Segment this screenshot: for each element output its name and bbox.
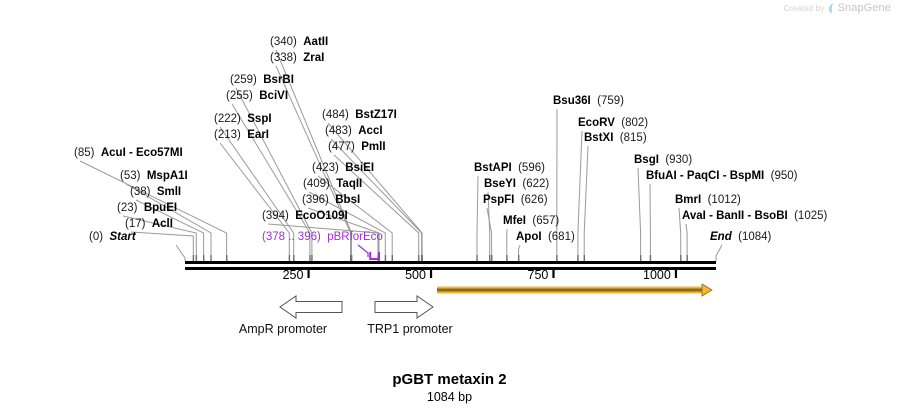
cut-site-tick [289, 255, 290, 261]
start-marker-label: (0) Start [89, 231, 136, 243]
enzyme-position: (255) [226, 90, 253, 102]
cut-site-tick [680, 255, 681, 261]
start-marker-leader [176, 245, 185, 261]
ruler-tick [307, 269, 309, 278]
cut-site-tick [577, 255, 578, 261]
enzyme-label-eari: (213) EarI [214, 129, 269, 141]
enzyme-name: PspFI [483, 194, 514, 206]
enzyme-name: AvaI [682, 210, 706, 222]
enzyme-position: (85) [74, 147, 94, 159]
cut-site-tick [506, 255, 507, 261]
enzyme-position: (622) [522, 178, 549, 190]
marker-position: (0) [89, 231, 103, 243]
enzyme-position: (596) [518, 162, 545, 174]
enzyme-label-acci: (483) AccI [325, 125, 383, 137]
enzyme-name: SmlI [157, 186, 181, 198]
cut-site-tick [518, 255, 519, 261]
marker-name: Start [109, 231, 135, 243]
enzyme-label-pmli: (477) PmlI [328, 141, 386, 153]
enzyme-label-bstapi: BstAPI (596) [474, 162, 545, 174]
enzyme-position: (759) [597, 95, 624, 107]
enzyme-name: PaqCI [687, 170, 720, 182]
enzyme-name: BsgI [634, 154, 659, 166]
enzyme-name: Eco57MI [136, 147, 183, 159]
enzyme-position: (483) [325, 125, 352, 137]
enzyme-label-bpuei: (23) BpuEI [117, 202, 177, 214]
enzyme-label-bmri: BmrI (1012) [675, 194, 741, 206]
cut-site-leader [578, 131, 582, 261]
enzyme-name: EcoRV [578, 117, 615, 129]
enzyme-name: EarI [247, 129, 269, 141]
cut-site-tick [203, 255, 204, 261]
cut-site-tick [196, 255, 197, 261]
enzyme-position: (681) [548, 231, 575, 243]
enzyme-name: ZraI [303, 52, 324, 64]
cut-site-tick [350, 255, 351, 261]
enzyme-label-bsu36i: Bsu36I (759) [553, 95, 624, 107]
enzyme-position: (815) [620, 132, 647, 144]
enzyme-position: (53) [120, 170, 140, 182]
enzyme-label-bsrbi: (259) BsrBI [230, 74, 294, 86]
cut-site-tick [193, 255, 194, 261]
enzyme-position: (802) [621, 117, 648, 129]
cut-site-tick [385, 255, 386, 261]
enzyme-label-bcivi: (255) BciVI [226, 90, 288, 102]
primer-leader [358, 245, 368, 257]
enzyme-label-mspa1i: (53) MspA1I [120, 170, 188, 182]
enzyme-label-acui: (85) AcuI - Eco57MI [74, 147, 183, 159]
cut-site-leader [220, 143, 289, 261]
plasmid-length: 1084 bp [0, 390, 899, 404]
cut-site-tick [489, 255, 490, 261]
enzyme-label-bsiei: (423) BsiEI [312, 162, 374, 174]
enzyme-label-sspi: (222) SspI [214, 113, 272, 125]
cut-site-tick [491, 255, 492, 261]
enzyme-label-mfei: MfeI (657) [503, 215, 559, 227]
enzyme-position: (38) [130, 186, 150, 198]
enzyme-name: PmlI [361, 141, 385, 153]
enzyme-label-zrai: (338) ZraI [270, 52, 324, 64]
plasmid-title: pGBT metaxin 2 [0, 371, 899, 388]
enzyme-position: (1025) [794, 210, 827, 222]
enzyme-label-bsgi: BsgI (930) [634, 154, 692, 166]
enzyme-label-bfuai: BfuAI - PaqCI - BspMI (950) [646, 170, 797, 182]
cut-site-tick [686, 255, 687, 261]
enzyme-label-apoi: ApoI (681) [516, 231, 575, 243]
ruler-tick [675, 269, 677, 278]
cut-site-tick [584, 255, 585, 261]
enzyme-name: BanII [716, 210, 744, 222]
enzyme-label-bseyi: BseYI (622) [484, 178, 549, 190]
enzyme-name: EcoO109I [295, 210, 347, 222]
enzyme-position: (423) [312, 162, 339, 174]
enzyme-label-pspfi: PspFI (626) [483, 194, 548, 206]
cut-site-tick [210, 255, 211, 261]
cut-site-tick [640, 255, 641, 261]
enzyme-position: (23) [117, 202, 137, 214]
enzyme-label-aatii: (340) AatII [270, 36, 328, 48]
plasmid-map: Created by SnapGene (85) AcuI - Eco57MI(… [0, 0, 899, 411]
enzyme-name: ApoI [516, 231, 542, 243]
cut-site-tick [392, 255, 393, 261]
marker-name: End [710, 231, 732, 243]
cut-site-leader [477, 176, 478, 261]
feature-arrow-ampr-promoter [280, 296, 342, 318]
enzyme-name: AclI [152, 218, 173, 230]
enzyme-position: (657) [532, 215, 559, 227]
enzyme-position: (213) [214, 129, 241, 141]
enzyme-position: (477) [328, 141, 355, 153]
feature-label-trp1-promoter: TRP1 promoter [350, 322, 470, 336]
enzyme-name: BstZ17I [355, 109, 397, 121]
enzyme-label-bstxi: BstXI (815) [584, 132, 647, 144]
cut-site-leader [638, 168, 641, 261]
enzyme-name: BsiEI [345, 162, 374, 174]
enzyme-position: (930) [665, 154, 692, 166]
end-marker-label: End (1084) [710, 231, 771, 243]
cut-site-tick [650, 255, 651, 261]
cut-site-tick [418, 255, 419, 261]
ruler-tick-label: 750 [482, 268, 548, 282]
ruler-tick [430, 269, 432, 278]
enzyme-name: BbsI [335, 194, 360, 206]
enzyme-name: BsrBI [263, 74, 294, 86]
marker-position: (1084) [738, 231, 771, 243]
primer-label-pbrforeco: (378 .. 396) pBRforEco [262, 231, 383, 243]
enzyme-label-bbsi: (396) BbsI [302, 194, 360, 206]
cut-site-tick [556, 255, 557, 261]
enzyme-position: (950) [771, 170, 798, 182]
enzyme-position: (17) [125, 218, 145, 230]
ruler-tick [552, 269, 554, 278]
enzyme-name: BspMI [730, 170, 765, 182]
enzyme-name: BseYI [484, 178, 516, 190]
enzyme-name: SspI [247, 113, 271, 125]
cut-site-tick [476, 255, 477, 261]
cut-site-tick [293, 255, 294, 261]
cut-site-tick [311, 255, 312, 261]
cut-site-tick [226, 255, 227, 261]
feature-label-ampr-promoter: AmpR promoter [223, 322, 343, 336]
enzyme-name: BmrI [675, 194, 701, 206]
cut-site-leader [584, 146, 588, 261]
enzyme-label-smli: (38) SmlI [130, 186, 181, 198]
enzyme-name: AccI [358, 125, 382, 137]
enzyme-position: (340) [270, 36, 297, 48]
enzyme-position: (484) [322, 109, 349, 121]
enzyme-label-ecorv: EcoRV (802) [578, 117, 648, 129]
enzyme-position: (409) [303, 178, 330, 190]
enzyme-name: MspA1I [147, 170, 188, 182]
backbone-rail-top [185, 261, 716, 264]
ruler-tick-label: 500 [360, 268, 426, 282]
enzyme-name: AatII [303, 36, 328, 48]
enzyme-name: AcuI [101, 147, 126, 159]
orf-arrow-body-core [437, 289, 702, 292]
enzyme-position: (626) [521, 194, 548, 206]
enzyme-label-ecoo109i: (394) EcoO109I [262, 210, 348, 222]
enzyme-name: Bsu36I [553, 95, 591, 107]
ruler-tick-label: 1000 [605, 268, 671, 282]
enzyme-label-acli: (17) AclI [125, 218, 173, 230]
end-marker-leader [716, 245, 722, 261]
enzyme-label-taqii: (409) TaqII [303, 178, 362, 190]
enzyme-name: BstAPI [474, 162, 512, 174]
enzyme-position: (259) [230, 74, 257, 86]
enzyme-name: TaqII [336, 178, 362, 190]
enzyme-position: (338) [270, 52, 297, 64]
ruler-tick-label: 250 [237, 268, 303, 282]
enzyme-name: BpuEI [144, 202, 177, 214]
enzyme-name: BsoBI [754, 210, 787, 222]
cut-site-tick [421, 255, 422, 261]
enzyme-name: BstXI [584, 132, 613, 144]
enzyme-position: (396) [302, 194, 329, 206]
enzyme-label-avai: AvaI - BanII - BsoBI (1025) [682, 210, 827, 222]
enzyme-position: (222) [214, 113, 241, 125]
primer-range: (378 .. 396) [262, 231, 321, 243]
primer-name: pBRforEco [327, 231, 383, 243]
orf-arrow-head [702, 284, 712, 296]
enzyme-name: BfuAI [646, 170, 677, 182]
enzyme-position: (1012) [708, 194, 741, 206]
enzyme-label-bstz17i: (484) BstZ17I [322, 109, 397, 121]
cut-site-tick [309, 255, 310, 261]
enzyme-name: BciVI [259, 90, 288, 102]
cut-site-leader [679, 208, 681, 261]
enzyme-position: (394) [262, 210, 289, 222]
feature-arrow-trp1-promoter [375, 296, 433, 318]
enzyme-name: MfeI [503, 215, 526, 227]
